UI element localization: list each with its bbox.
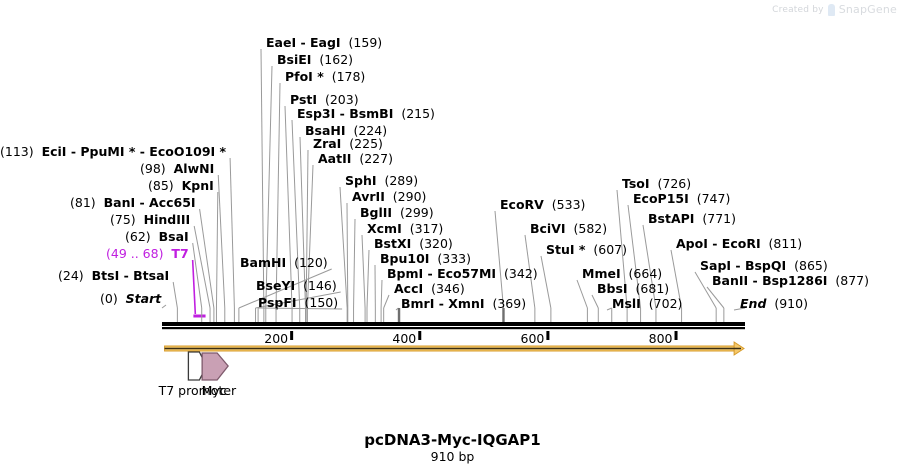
- plasmid-map: Created by SnapGene (113) EciI - PpuMI *…: [0, 0, 905, 471]
- ruler-tick-mark: [546, 331, 549, 340]
- ruler-tick-mark: [418, 331, 421, 340]
- ruler-bar-shadow: [162, 327, 745, 329]
- page-subtitle: 910 bp: [0, 449, 905, 464]
- ruler-tick-label: 800: [649, 331, 673, 346]
- ruler-tick-mark: [290, 331, 293, 340]
- page-title: pcDNA3-Myc-IQGAP1: [0, 431, 905, 449]
- feature-myc-shape[interactable]: [202, 353, 228, 380]
- feature-label-myc: Myc: [202, 383, 227, 398]
- ruler-tick-label: 600: [521, 331, 545, 346]
- ruler-tick-label: 400: [392, 331, 416, 346]
- sequence-ruler: [0, 0, 905, 471]
- ruler-tick-label: 200: [264, 331, 288, 346]
- ruler-bar: [162, 322, 745, 326]
- ruler-tick-mark: [675, 331, 678, 340]
